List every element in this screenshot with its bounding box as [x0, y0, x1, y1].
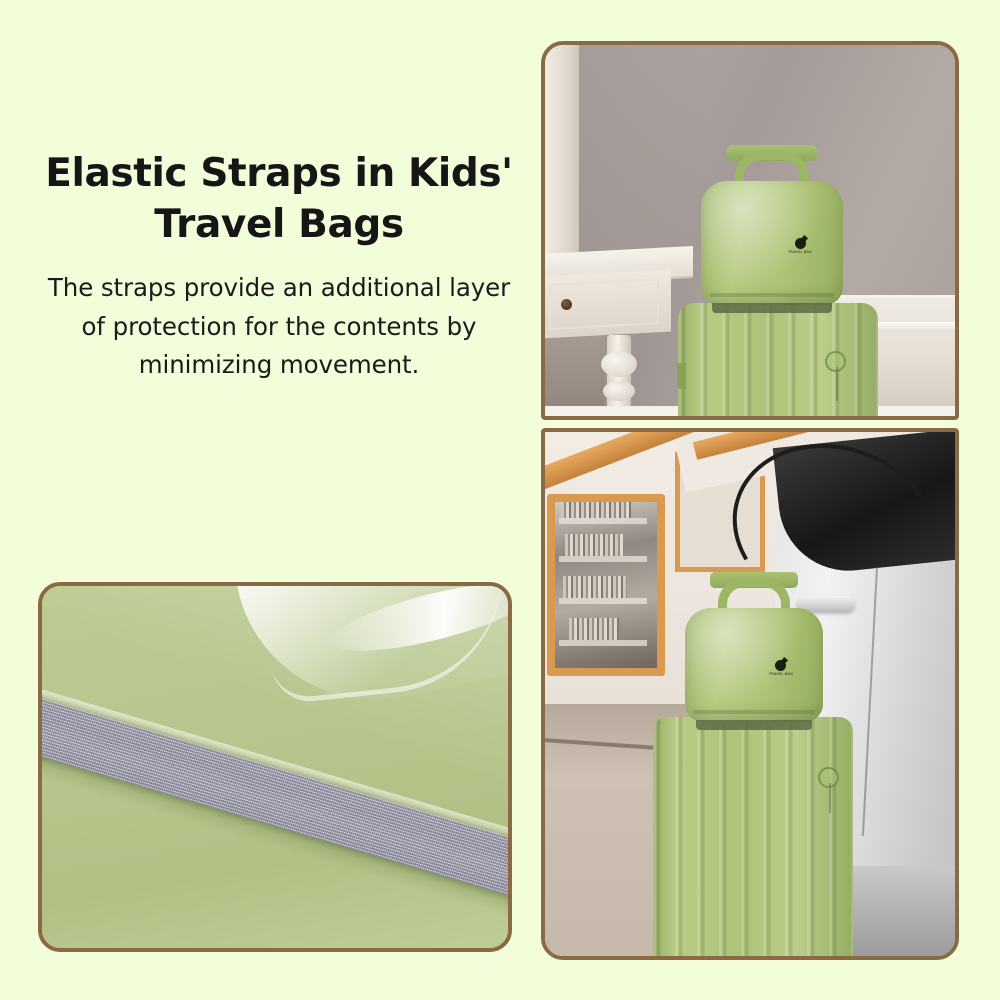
- strap-macro-scene: [42, 586, 508, 948]
- outdoor-scene: TRAVEL BAG: [545, 432, 955, 956]
- books-row: [561, 502, 631, 518]
- photo-panel-room: TRAVEL BAG: [541, 41, 959, 420]
- poster-canvas: Elastic Straps in Kids' Travel Bags The …: [0, 0, 1000, 1000]
- library-window-frame: [547, 494, 665, 676]
- photo-panel-strap-macro: [38, 582, 512, 952]
- vanity-base-feet: [712, 303, 831, 313]
- table-leg-turning-upper: [601, 351, 637, 377]
- bookshelf-shelf: [559, 640, 647, 646]
- text-block: Elastic Straps in Kids' Travel Bags The …: [34, 148, 524, 385]
- books-row: [565, 534, 623, 556]
- bookshelf-shelf: [559, 518, 647, 524]
- brand-logo: TRAVEL BAG: [777, 238, 823, 254]
- brand-logo: TRAVEL BAG: [758, 660, 804, 676]
- suitcase-lock-seam: [836, 367, 838, 401]
- under-desk-shadow: [545, 327, 605, 416]
- suitcase-ribs: [678, 303, 878, 416]
- brand-logo-text: TRAVEL BAG: [760, 673, 801, 677]
- vanity-case: TRAVEL BAG: [685, 572, 823, 722]
- vanity-case: TRAVEL BAG: [701, 145, 843, 305]
- books-row: [563, 576, 627, 598]
- suitcase-large: [653, 717, 853, 956]
- bookshelf-shelf: [559, 556, 647, 562]
- suitcase-lock-seam: [829, 783, 831, 813]
- books-row: [569, 618, 619, 640]
- table-leg-turning-lower: [603, 381, 635, 401]
- page-title: Elastic Straps in Kids' Travel Bags: [34, 148, 524, 251]
- bookshelf-shelf: [559, 598, 647, 604]
- brand-logo-mark-icon: [795, 238, 806, 249]
- photo-panel-outdoor: TRAVEL BAG: [541, 428, 959, 960]
- suitcase-ribs: [653, 717, 853, 956]
- brand-logo-mark-icon: [775, 660, 786, 671]
- library-window-glass: [555, 502, 657, 668]
- suitcase-large: [678, 303, 878, 416]
- page-subcopy: The straps provide an additional layer o…: [44, 269, 514, 385]
- brand-logo-text: TRAVEL BAG: [779, 250, 820, 254]
- vanity-base-feet: [696, 720, 812, 730]
- drawer-knob-icon: [561, 299, 572, 310]
- suitcase-side-tab: [677, 363, 686, 389]
- room-scene: TRAVEL BAG: [545, 45, 955, 416]
- vanity-body: TRAVEL BAG: [701, 181, 843, 305]
- vanity-body: TRAVEL BAG: [685, 608, 823, 722]
